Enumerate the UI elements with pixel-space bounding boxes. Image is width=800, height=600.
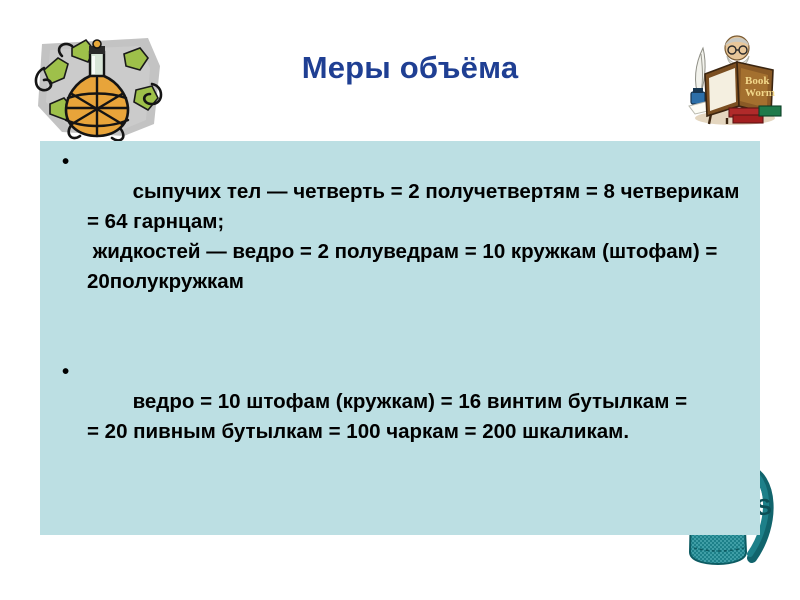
bullet-marker: • — [62, 147, 69, 177]
book-worm-clipart: Book Worm — [683, 30, 783, 126]
list-item-text: ведро = 10 штофам (кружкам) = 16 винтим … — [87, 390, 687, 443]
slide: Меры объёма — [0, 0, 800, 600]
svg-text:Worm: Worm — [745, 87, 775, 99]
content-panel: •сыпучих тел — четверть = 2 получетвертя… — [40, 141, 760, 535]
page-title: Меры объёма — [160, 50, 660, 86]
svg-text:Book: Book — [745, 75, 770, 87]
bullet-marker: • — [62, 357, 69, 387]
bullet-list: •сыпучих тел — четверть = 2 получетвертя… — [52, 147, 752, 477]
bottle-in-wicker-basket-clipart — [28, 28, 168, 146]
list-item: •сыпучих тел — четверть = 2 получетвертя… — [52, 147, 752, 327]
list-item-text: сыпучих тел — четверть = 2 получетвертям… — [87, 180, 745, 293]
list-item: •ведро = 10 штофам (кружкам) = 16 винтим… — [52, 357, 752, 477]
